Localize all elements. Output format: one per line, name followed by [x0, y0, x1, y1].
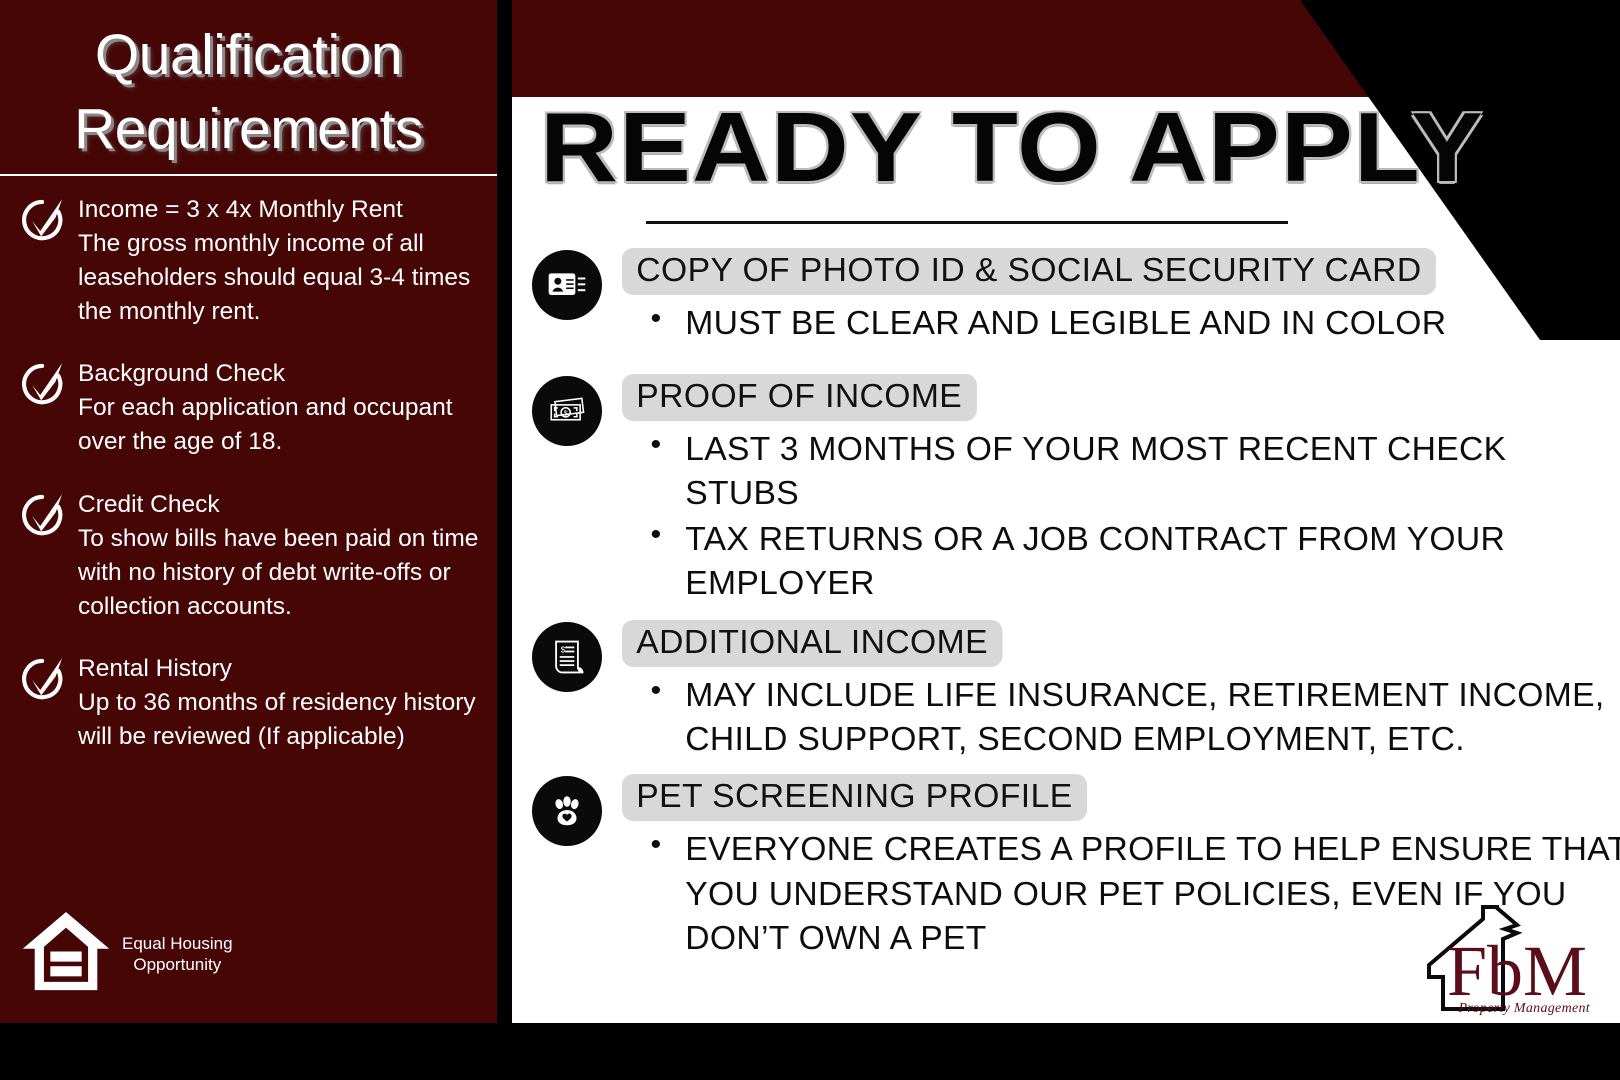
section-points: LAST 3 MONTHS OF YOUR MOST RECENT CHECK … [622, 427, 1610, 605]
section-icon-column [512, 774, 622, 846]
equal-housing-label: Equal Housing Opportunity [122, 933, 233, 975]
section-label: PET SCREENING PROFILE [622, 774, 1087, 821]
svg-text:$: $ [564, 411, 568, 418]
section-body: PROOF OF INCOME LAST 3 MONTHS OF YOUR MO… [622, 374, 1620, 606]
list-item: Credit Check To show bills have been pai… [14, 487, 479, 624]
equal-housing-opportunity-icon [20, 909, 112, 999]
page-title-line-1: Qualification [26, 18, 471, 92]
requirement-text: Background Check For each application an… [78, 356, 479, 459]
list-item: TAX RETURNS OR A JOB CONTRACT FROM YOUR … [622, 517, 1620, 605]
equal-housing-line-1: Equal Housing [122, 933, 233, 954]
list-item: Background Check For each application an… [14, 356, 479, 459]
equal-housing-line-2: Opportunity [122, 954, 233, 975]
page-title-line-2: Requirements [26, 92, 471, 166]
section-additional-income: $ ADDITIONAL INCOME [512, 620, 1620, 762]
section-points: MAY INCLUDE LIFE INSURANCE, RETIREMENT I… [622, 673, 1610, 761]
section-label: PROOF OF INCOME [622, 374, 976, 421]
ready-to-apply-panel: READY TO APPLY [512, 0, 1620, 1023]
requirement-text: Income = 3 x 4x Monthly Rent The gross m… [78, 192, 479, 329]
requirement-body: To show bills have been paid on time wit… [78, 522, 479, 624]
list-item: LAST 3 MONTHS OF YOUR MOST RECENT CHECK … [622, 427, 1620, 515]
svg-text:$: $ [561, 645, 566, 654]
section-points: MUST BE CLEAR AND LEGIBLE AND IN COLOR [622, 301, 1610, 345]
check-circle-icon [14, 487, 78, 543]
section-label: COPY OF PHOTO ID & SOCIAL SECURITY CARD [622, 248, 1436, 295]
section-photo-id: COPY OF PHOTO ID & SOCIAL SECURITY CARD … [512, 248, 1620, 346]
requirement-body: The gross monthly income of all leasehol… [78, 227, 479, 329]
equal-housing-block: Equal Housing Opportunity [20, 909, 233, 999]
headline: READY TO APPLY [540, 98, 1530, 196]
requirement-title: Income = 3 x 4x Monthly Rent [78, 193, 479, 227]
requirement-text: Rental History Up to 36 months of reside… [78, 651, 479, 754]
requirement-body: For each application and occupant over t… [78, 391, 479, 459]
requirement-title: Credit Check [78, 488, 479, 522]
invoice-receipt-icon: $ [532, 622, 602, 692]
section-body: ADDITIONAL INCOME MAY INCLUDE LIFE INSUR… [622, 620, 1620, 762]
cash-money-icon: $ [532, 376, 602, 446]
requirements-list: Income = 3 x 4x Monthly Rent The gross m… [0, 176, 497, 754]
section-body: COPY OF PHOTO ID & SOCIAL SECURITY CARD … [622, 248, 1620, 346]
section-label: ADDITIONAL INCOME [622, 620, 1002, 667]
list-item: MAY INCLUDE LIFE INSURANCE, RETIREMENT I… [622, 673, 1620, 761]
section-icon-column [512, 248, 622, 320]
requirement-title: Rental History [78, 652, 479, 686]
page-title: Qualification Requirements [0, 0, 497, 166]
requirement-title: Background Check [78, 357, 479, 391]
section-icon-column: $ [512, 374, 622, 446]
check-circle-icon [14, 192, 78, 248]
qualification-requirements-panel: Qualification Requirements Income = 3 x … [0, 0, 497, 1023]
fbm-wordmark: FbM [1447, 931, 1587, 1011]
poster-canvas: Qualification Requirements Income = 3 x … [0, 0, 1620, 1080]
requirement-text: Credit Check To show bills have been pai… [78, 487, 479, 624]
requirement-body: Up to 36 months of residency history wil… [78, 686, 479, 754]
list-item: MUST BE CLEAR AND LEGIBLE AND IN COLOR [622, 301, 1620, 345]
id-card-icon [532, 250, 602, 320]
headline-underline [646, 221, 1288, 224]
fbm-logo-tagline: Property Management [1458, 1001, 1590, 1017]
list-item: Rental History Up to 36 months of reside… [14, 651, 479, 754]
check-circle-icon [14, 651, 78, 707]
check-circle-icon [14, 356, 78, 412]
list-item: Income = 3 x 4x Monthly Rent The gross m… [14, 192, 479, 329]
section-icon-column: $ [512, 620, 622, 692]
requirement-sections: COPY OF PHOTO ID & SOCIAL SECURITY CARD … [512, 248, 1620, 961]
section-proof-of-income: $ PROOF OF INCOME LAST 3 MO [512, 374, 1620, 606]
paw-heart-icon [532, 776, 602, 846]
